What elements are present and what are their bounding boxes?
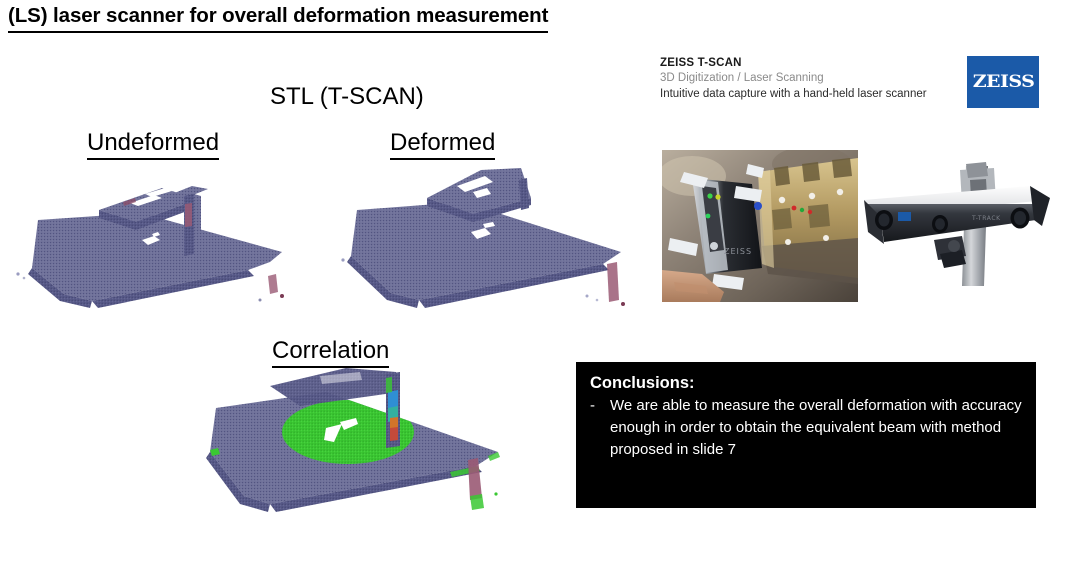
zeiss-description: Intuitive data capture with a hand-held … [660, 87, 960, 103]
undeformed-point-cloud [2, 158, 332, 313]
conclusion-bullet: - [590, 395, 610, 461]
hand-held-laser-scanner-photo: ZEISS [662, 150, 858, 302]
svg-text:ZEISS: ZEISS [724, 247, 752, 256]
zeiss-subtitle: 3D Digitization / Laser Scanning [660, 71, 960, 87]
deformed-label: Deformed [390, 129, 495, 160]
stl-section-heading: STL (T-SCAN) [270, 83, 424, 111]
conclusions-box: Conclusions: - We are able to measure th… [576, 362, 1036, 508]
undeformed-point-cloud-svg [2, 158, 332, 313]
undeformed-label: Undeformed [87, 129, 219, 160]
conclusion-text: We are able to measure the overall defor… [610, 395, 1022, 461]
zeiss-logo: ZEISS [967, 56, 1039, 108]
correlation-point-cloud-svg [200, 368, 520, 520]
page-title: (LS) laser scanner for overall deformati… [8, 4, 548, 33]
tracking-camera-bar-photo: T-TRACK [862, 162, 1058, 286]
conclusion-item: - We are able to measure the overall def… [590, 395, 1022, 461]
zeiss-header-block: ZEISS T-SCAN 3D Digitization / Laser Sca… [660, 56, 960, 102]
tracking-camera-bar-svg: T-TRACK [862, 162, 1058, 286]
deformed-point-cloud [335, 160, 655, 312]
svg-text:T-TRACK: T-TRACK [971, 215, 1001, 222]
hand-held-scanner-svg: ZEISS [662, 150, 858, 302]
correlation-point-cloud [200, 368, 520, 520]
deformed-point-cloud-svg [335, 160, 655, 312]
conclusions-heading: Conclusions: [590, 372, 1022, 394]
zeiss-product-title: ZEISS T-SCAN [660, 56, 960, 71]
correlation-label: Correlation [272, 337, 389, 368]
zeiss-logo-text: ZEISS [972, 72, 1034, 92]
